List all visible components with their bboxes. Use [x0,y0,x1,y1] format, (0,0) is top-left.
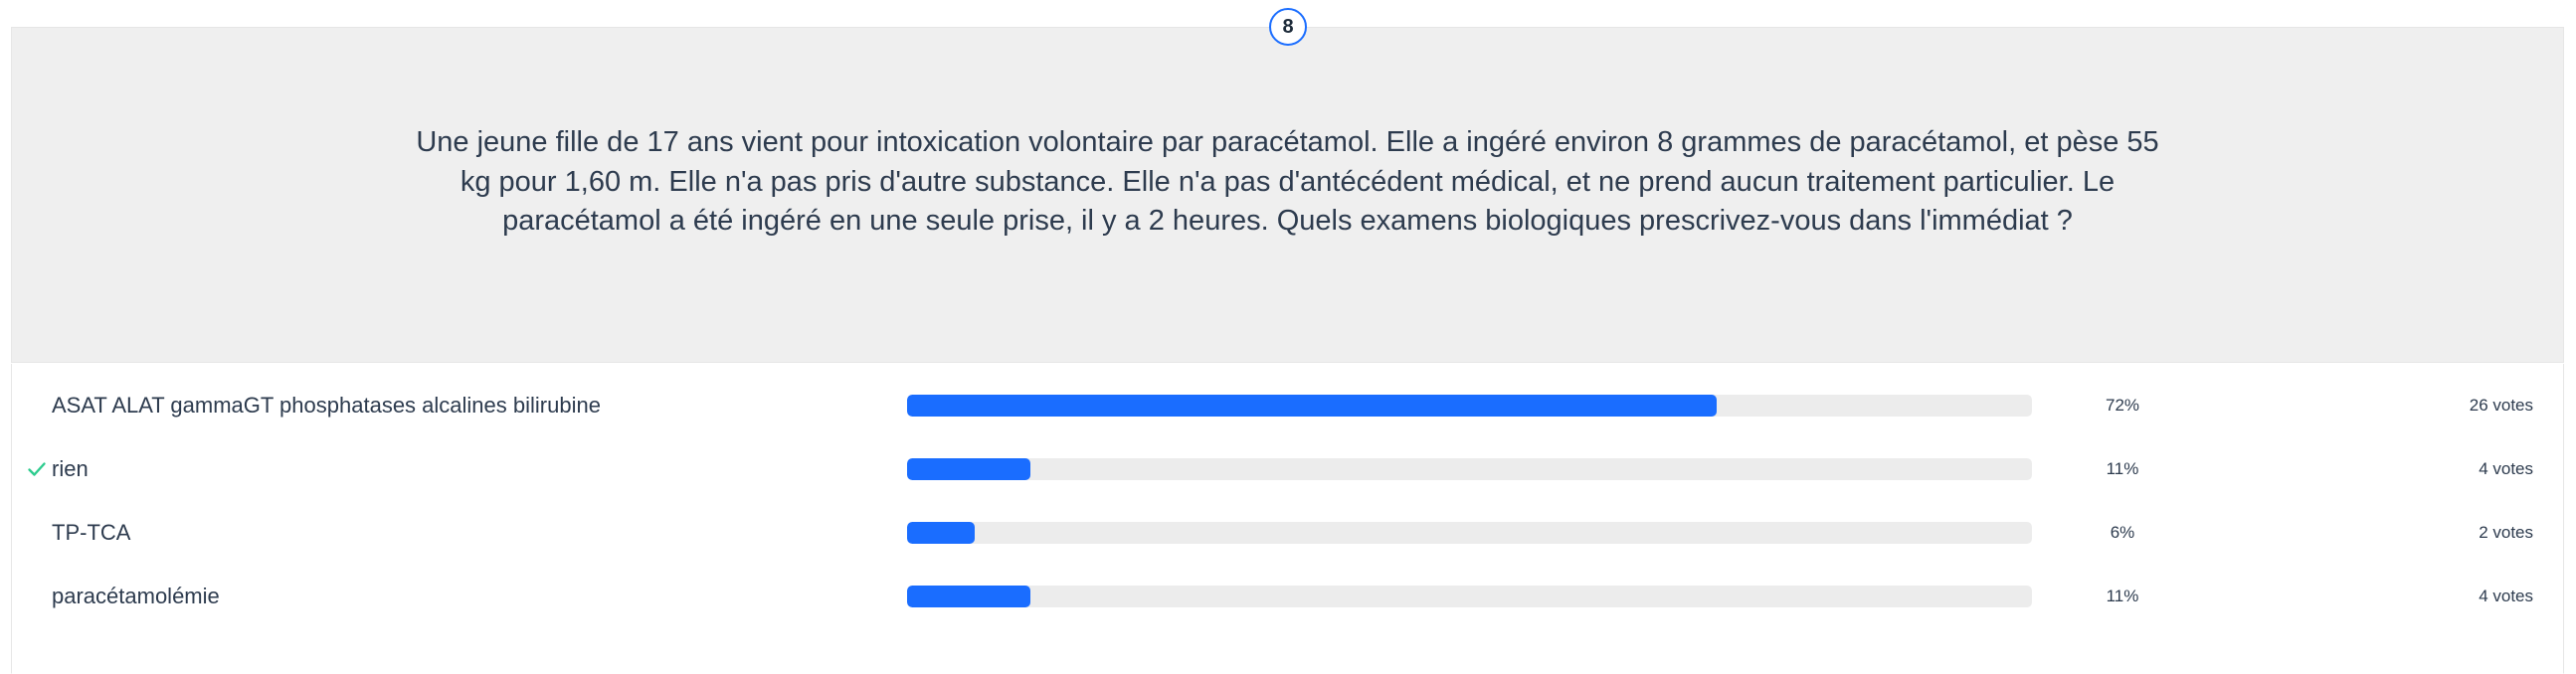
answer-label-cell: ASAT ALAT gammaGT phosphatases alcalines… [22,393,907,419]
answer-bar-track [907,458,2032,480]
check-icon [26,458,48,480]
poll-result-widget: Une jeune fille de 17 ans vient pour int… [0,0,2576,674]
answer-bar-fill [907,458,1030,480]
answer-percent: 11% [2043,459,2202,479]
answer-label: rien [52,456,89,482]
answer-percent: 72% [2043,396,2202,416]
answer-row[interactable]: paracétamolémie11%4 votes [12,565,2563,628]
answer-percent: 11% [2043,587,2202,606]
answer-percent: 6% [2043,523,2202,543]
answer-votes: 4 votes [2202,587,2563,606]
answer-bar-track [907,522,2032,544]
answer-label: ASAT ALAT gammaGT phosphatases alcalines… [52,393,601,419]
answer-bar-cell [907,586,2043,607]
answer-votes: 4 votes [2202,459,2563,479]
answer-label-cell: rien [22,456,907,482]
question-text: Une jeune fille de 17 ans vient pour int… [413,123,2163,242]
question-number-badge: 8 [1269,8,1307,46]
answer-bar-fill [907,586,1030,607]
answer-row[interactable]: rien11%4 votes [12,437,2563,501]
answer-votes: 26 votes [2202,396,2563,416]
answer-bar-cell [907,395,2043,417]
answer-label: TP-TCA [52,520,130,546]
answer-bar-track [907,395,2032,417]
answer-bar-fill [907,522,975,544]
answer-bar-fill [907,395,1717,417]
answer-label-cell: paracétamolémie [22,584,907,609]
answer-row[interactable]: ASAT ALAT gammaGT phosphatases alcalines… [12,374,2563,437]
answer-label: paracétamolémie [52,584,220,609]
answer-label-cell: TP-TCA [22,520,907,546]
answer-results-list: ASAT ALAT gammaGT phosphatases alcalines… [11,364,2564,674]
question-panel: Une jeune fille de 17 ans vient pour int… [11,27,2564,363]
answer-votes: 2 votes [2202,523,2563,543]
answer-row[interactable]: TP-TCA6%2 votes [12,501,2563,565]
answer-bar-cell [907,458,2043,480]
answer-bar-track [907,586,2032,607]
answer-bar-cell [907,522,2043,544]
